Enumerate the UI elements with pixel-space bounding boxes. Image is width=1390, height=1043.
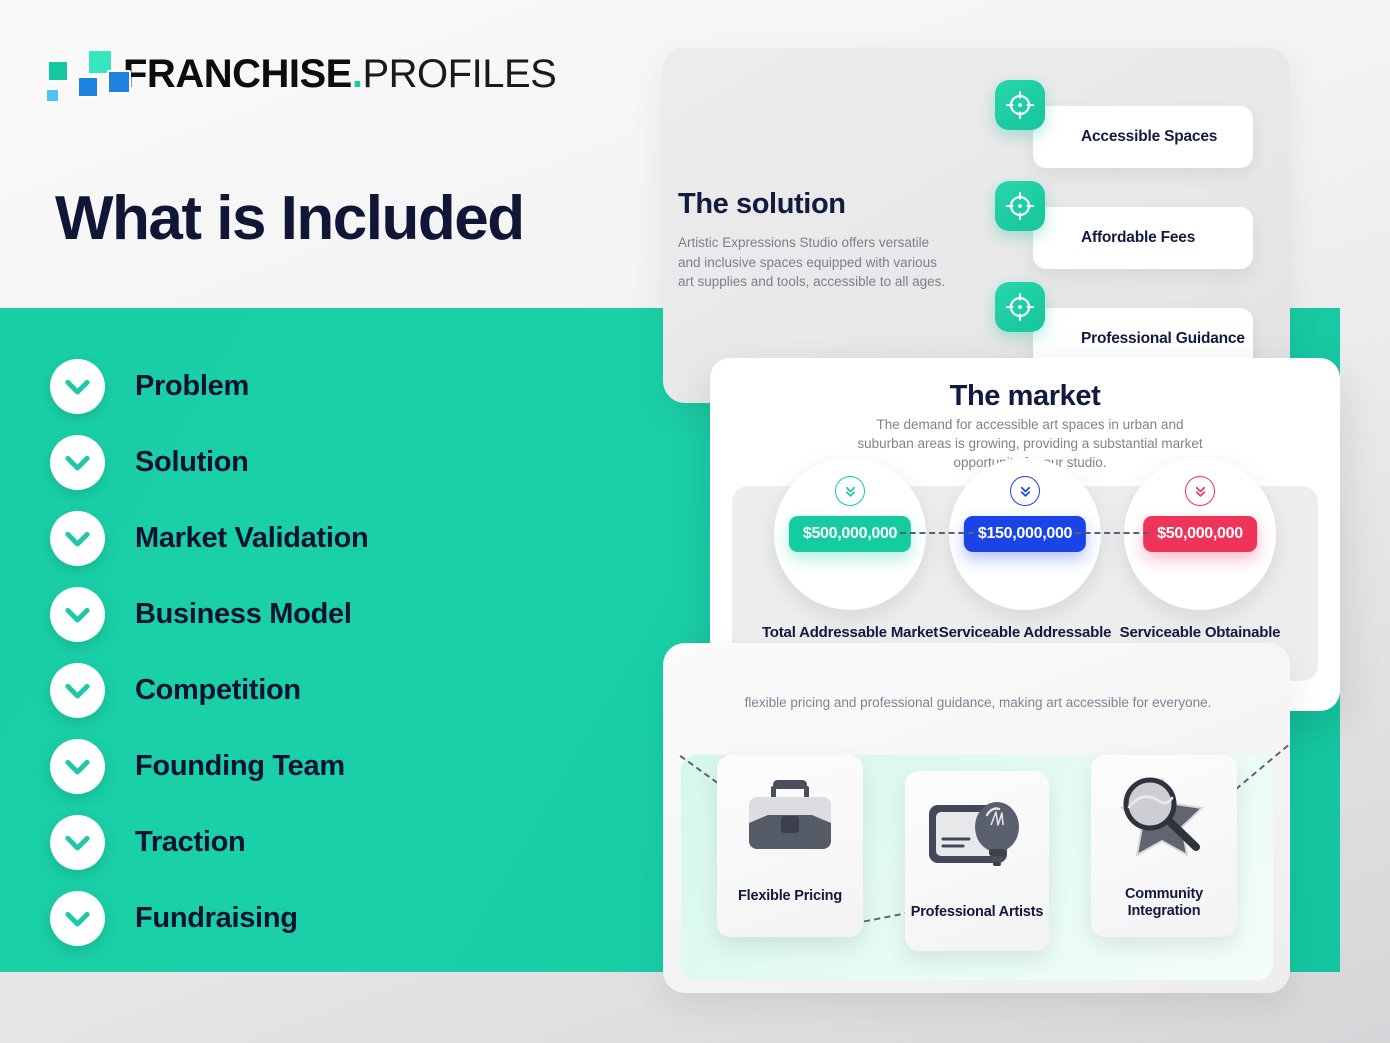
- lightbulb-document-icon: [925, 793, 1029, 884]
- market-metric-1: $150,000,000Serviceable Addressable Mark…: [925, 458, 1125, 659]
- checklist-item-3[interactable]: Business Model: [50, 576, 610, 652]
- checklist-item-7[interactable]: Fundraising: [50, 880, 610, 956]
- market-connector-dash-0: [900, 532, 974, 534]
- checklist-item-label: Solution: [135, 446, 249, 479]
- market-connector-dash-1: [1075, 532, 1149, 534]
- checklist-item-label: Founding Team: [135, 750, 345, 783]
- checklist-item-4[interactable]: Competition: [50, 652, 610, 728]
- solution-feature-label: Affordable Fees: [1081, 229, 1195, 247]
- brand-logo[interactable]: FRANCHISE.PROFILES: [45, 48, 556, 100]
- chevron-down-icon: [50, 435, 105, 490]
- traction-tile-label: Professional Artists: [911, 904, 1043, 921]
- crosshair-target-icon: [995, 80, 1045, 130]
- traction-tile-label: Flexible Pricing: [738, 888, 842, 905]
- squares-logo-icon: [45, 48, 107, 100]
- market-metric-bubble: $50,000,000: [1124, 458, 1276, 610]
- checklist-item-label: Fundraising: [135, 902, 298, 935]
- solution-feature-card[interactable]: Accessible Spaces: [1033, 106, 1253, 168]
- market-metric-2: $50,000,000Serviceable Obtainable Market…: [1100, 458, 1300, 659]
- brand-name-thin: PROFILES: [362, 52, 556, 96]
- double-chevron-down-icon: [1185, 476, 1215, 506]
- market-metric-0: $500,000,000Total Addressable Market (TA…: [750, 458, 950, 659]
- market-metric-bubble: $150,000,000: [949, 458, 1101, 610]
- checklist-item-label: Market Validation: [135, 522, 368, 555]
- checklist-item-5[interactable]: Founding Team: [50, 728, 610, 804]
- checklist-item-label: Competition: [135, 674, 301, 707]
- crosshair-target-icon: [995, 282, 1045, 332]
- checklist-item-2[interactable]: Market Validation: [50, 500, 610, 576]
- solution-heading: The solution: [678, 188, 846, 221]
- chevron-down-icon: [50, 891, 105, 946]
- checklist-item-label: Traction: [135, 826, 245, 859]
- chevron-down-icon: [50, 511, 105, 566]
- traction-body-text: flexible pricing and professional guidan…: [723, 693, 1233, 713]
- traction-tile-label: Community Integration: [1091, 886, 1237, 921]
- brand-name-bold: FRANCHISE: [123, 52, 352, 96]
- traction-tile-1[interactable]: Professional Artists: [905, 771, 1049, 951]
- solution-feature-card[interactable]: Affordable Fees: [1033, 207, 1253, 269]
- market-metric-value: $500,000,000: [789, 516, 911, 552]
- chevron-down-icon: [50, 587, 105, 642]
- checklist-item-label: Business Model: [135, 598, 352, 631]
- traction-tile-0[interactable]: Flexible Pricing: [717, 755, 863, 937]
- double-chevron-down-icon: [1010, 476, 1040, 506]
- chevron-down-icon: [50, 739, 105, 794]
- chevron-down-icon: [50, 663, 105, 718]
- checklist-item-1[interactable]: Solution: [50, 424, 610, 500]
- page-title: What is Included: [55, 188, 524, 250]
- solution-feature-0[interactable]: Accessible Spaces: [995, 80, 1295, 170]
- included-checklist: ProblemSolutionMarket ValidationBusiness…: [50, 348, 610, 956]
- solution-feature-label: Accessible Spaces: [1081, 128, 1217, 146]
- solution-body-text: Artistic Expressions Studio offers versa…: [678, 233, 948, 292]
- market-metric-value: $150,000,000: [964, 516, 1086, 552]
- market-metric-value: $50,000,000: [1143, 516, 1257, 552]
- crosshair-target-icon: [995, 181, 1045, 231]
- checklist-item-label: Problem: [135, 370, 249, 403]
- brand-wordmark: FRANCHISE.PROFILES: [123, 54, 556, 94]
- checklist-item-6[interactable]: Traction: [50, 804, 610, 880]
- double-chevron-down-icon: [835, 476, 865, 506]
- briefcase-icon: [740, 775, 840, 866]
- solution-feature-label: Professional Guidance: [1081, 330, 1245, 348]
- brand-dot: .: [352, 52, 363, 96]
- traction-tile-2[interactable]: Community Integration: [1091, 755, 1237, 937]
- chevron-down-icon: [50, 359, 105, 414]
- traction-card: flexible pricing and professional guidan…: [663, 643, 1290, 993]
- market-metric-bubble: $500,000,000: [774, 458, 926, 610]
- checklist-item-0[interactable]: Problem: [50, 348, 610, 424]
- market-heading: The market: [710, 380, 1340, 413]
- magnifier-star-icon: [1112, 773, 1216, 866]
- solution-feature-1[interactable]: Affordable Fees: [995, 181, 1295, 271]
- chevron-down-icon: [50, 815, 105, 870]
